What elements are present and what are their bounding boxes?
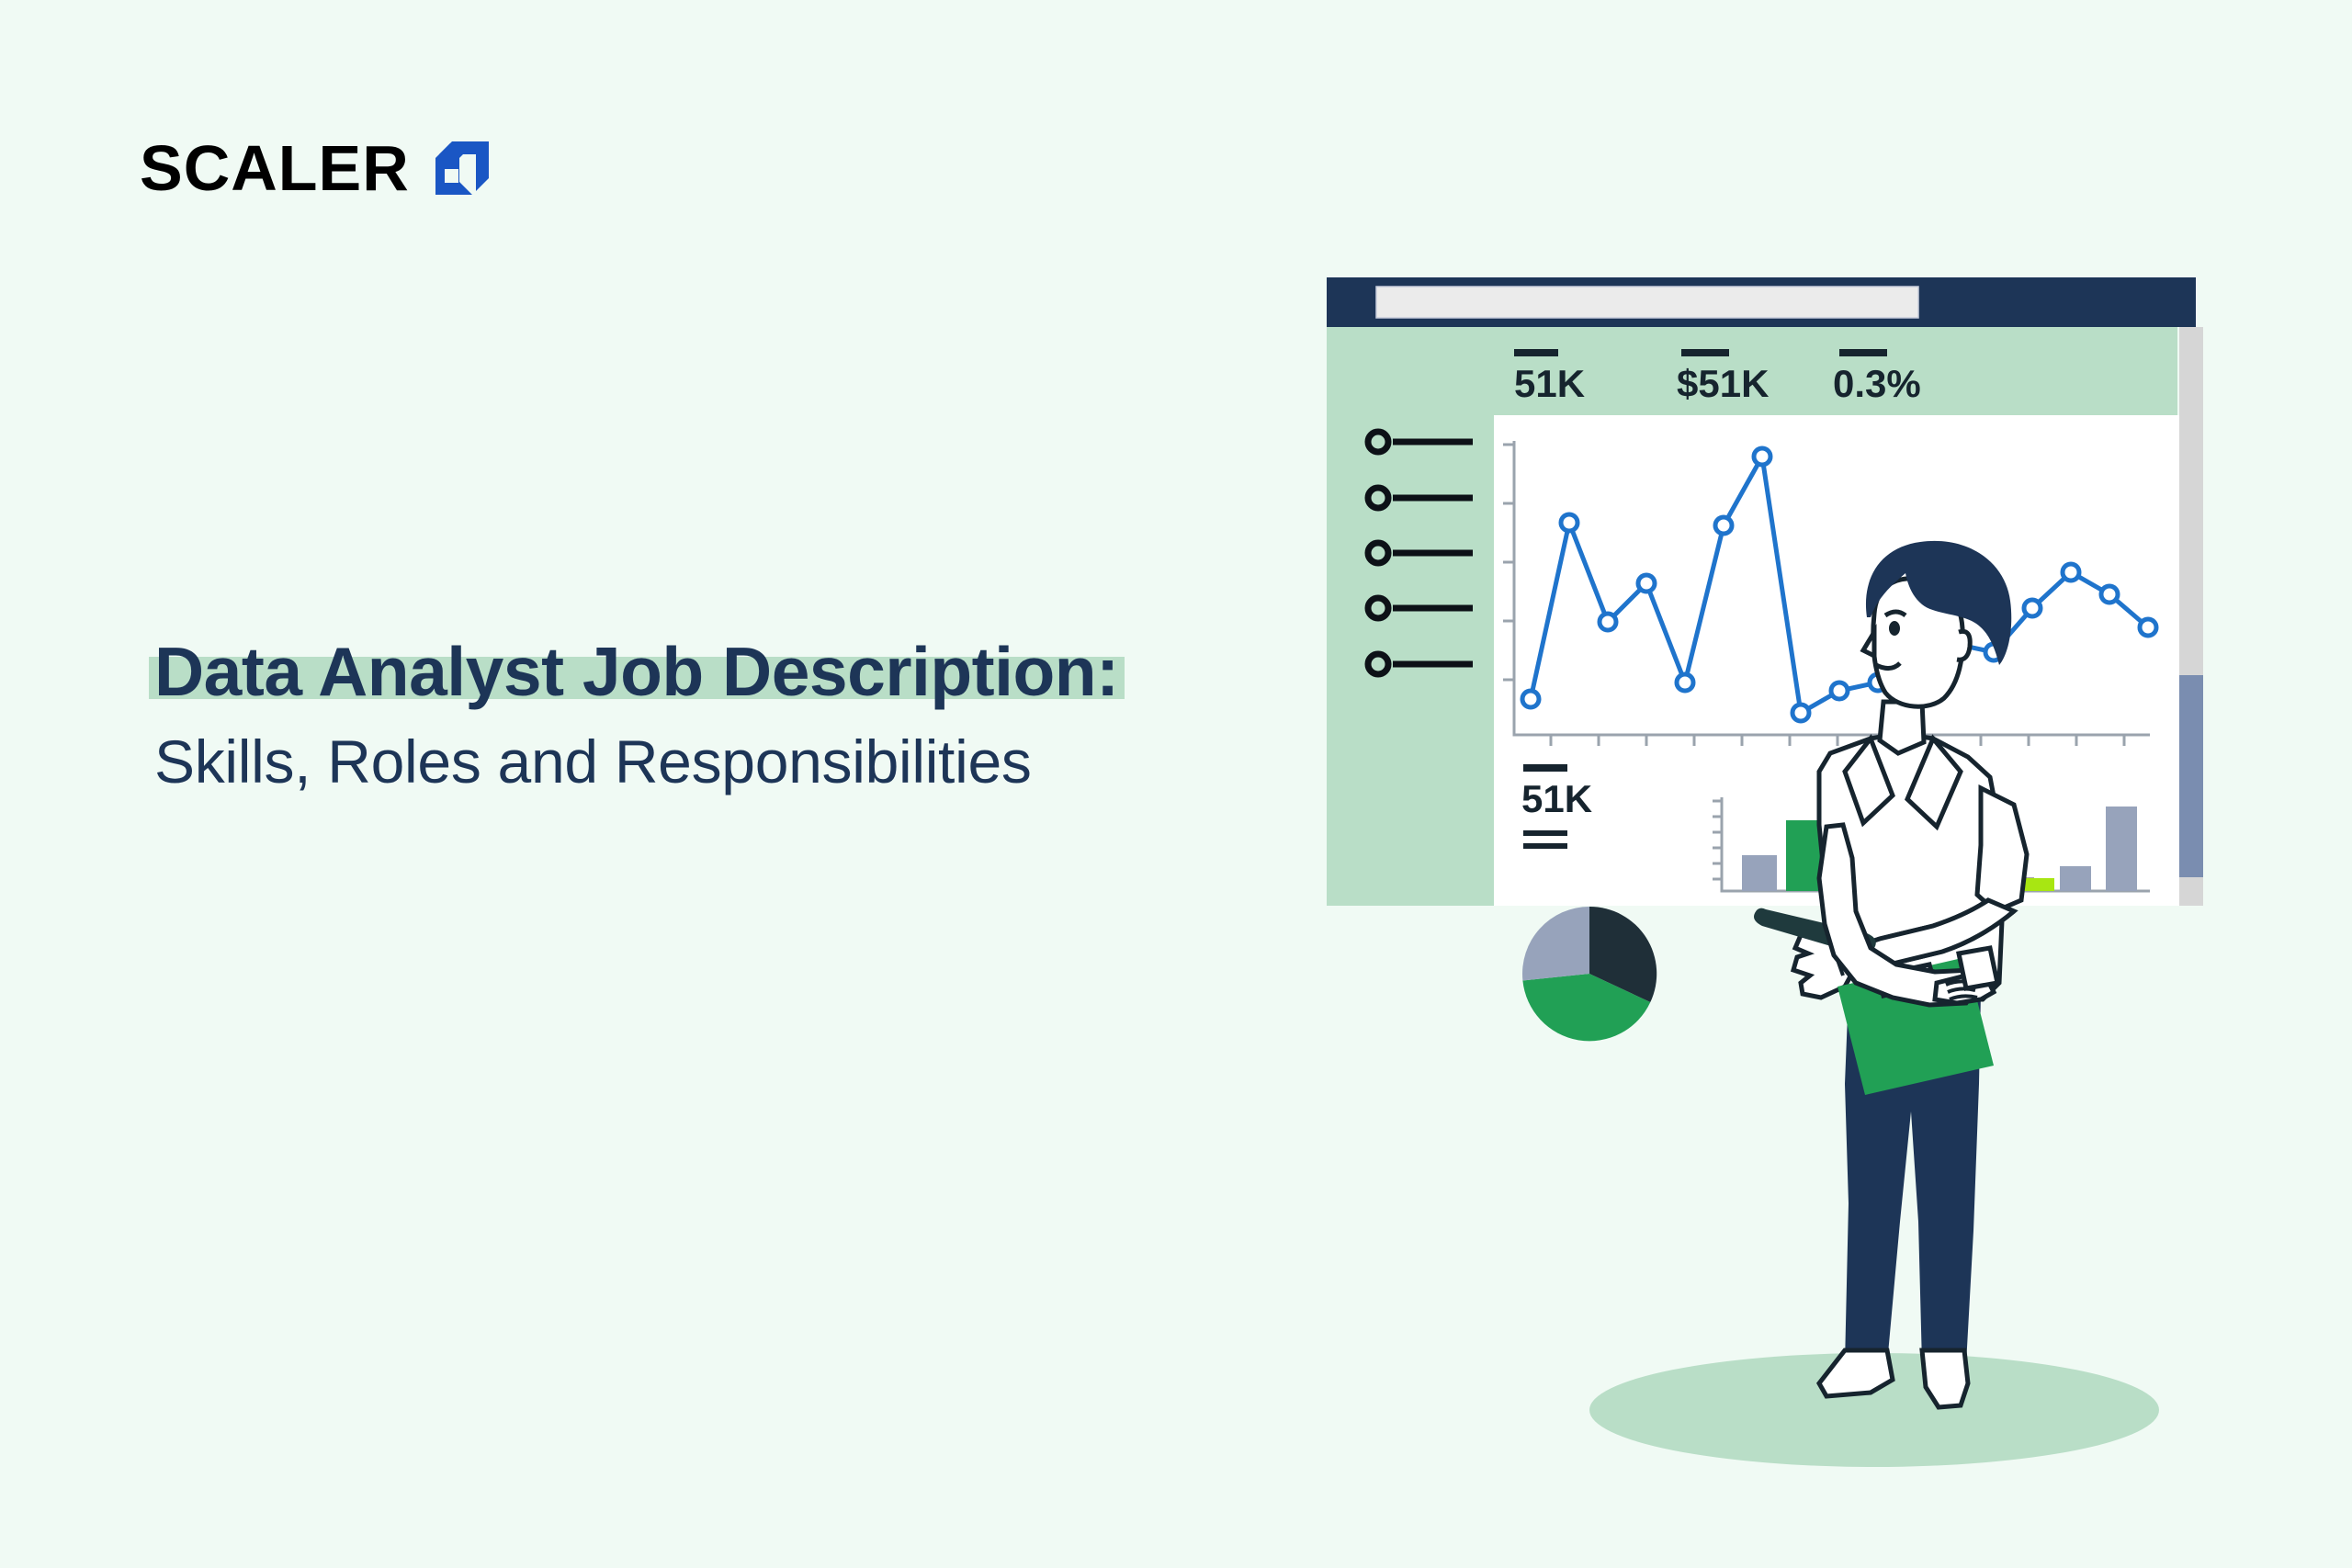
page-subtitle: Skills, Roles and Responsibilities [154,730,1385,794]
figure-ear [1957,631,1970,660]
brand-wordmark: SCALER [140,136,410,200]
bar-1 [1786,820,1821,891]
cube-icon [434,140,491,197]
pie-slice-2 [1522,907,1589,981]
poster-canvas: SCALER Data Analyst Job Description: Ski… [0,0,2352,1568]
bar-5 [2023,878,2054,891]
kpi-value-2: 0.3% [1833,362,1921,405]
figure-eye [1889,621,1900,636]
page-title: Data Analyst Job Description: [154,637,1119,706]
brand-logo[interactable]: SCALER [140,136,491,200]
vertical-scrollbar-thumb[interactable] [2179,675,2203,877]
headline-block: Data Analyst Job Description: Skills, Ro… [154,637,1385,794]
kpi-value-1: $51K [1677,362,1769,405]
bar-0 [1742,855,1777,891]
composition-pie-chart[interactable] [1522,907,1657,1041]
browser-address-field[interactable] [1376,287,1918,318]
figure-neck [1880,702,1924,753]
kpi-value-0: 51K [1514,362,1585,405]
illustration-container: 51K $51K 0.3% [1323,257,2251,1525]
figure-shirt-cuff [1959,948,1997,988]
bar-6 [2060,866,2091,891]
title-wrapper: Data Analyst Job Description: [154,637,1119,706]
bar-7 [2106,807,2137,891]
secondary-kpi-value: 51K [1521,777,1592,820]
